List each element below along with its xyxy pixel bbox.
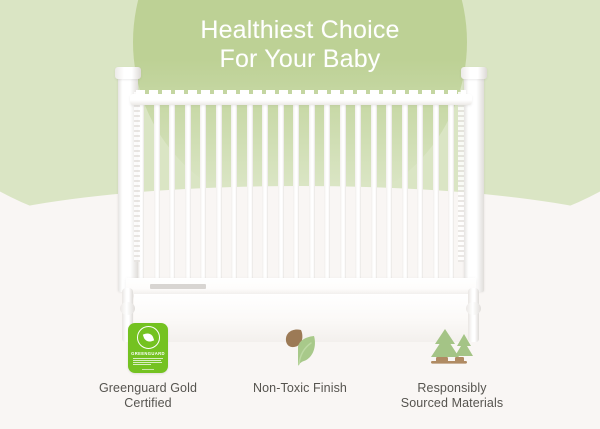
crib-slat (169, 104, 175, 280)
greenguard-gold-badge-icon: GREENGUARD (128, 322, 168, 374)
crib-post-ridges-left (134, 92, 140, 262)
feature-caption-line-1: Responsibly (401, 381, 503, 396)
crib-slat (340, 104, 346, 280)
greenguard-leaf-mark (137, 326, 160, 349)
crib-slat (216, 104, 222, 280)
feature-caption-line-1: Greenguard Gold (99, 381, 197, 396)
crib-post-cap-right (461, 67, 487, 79)
crib-top-rail-trim (136, 90, 466, 94)
feature-caption-greenguard: Greenguard Gold Certified (99, 381, 197, 411)
crib-slat (402, 104, 408, 280)
crib-slat (293, 104, 299, 280)
crib-label-plate (150, 284, 206, 289)
crib-slat (417, 104, 423, 280)
crib-slat (324, 104, 330, 280)
pine-trees-icon (424, 322, 480, 374)
crib-slat (371, 104, 377, 280)
headline-line-1: Healthiest Choice (0, 16, 600, 45)
two-leaves-icon (276, 322, 324, 374)
crib-top-rail (130, 94, 472, 105)
crib-slat (185, 104, 191, 280)
crib-post-cap-left (115, 67, 141, 79)
feature-caption-line-1: Non-Toxic Finish (253, 381, 347, 396)
crib-slat (262, 104, 268, 280)
greenguard-badge-textlines (133, 358, 163, 367)
feature-caption-line-2: Sourced Materials (401, 396, 503, 411)
feature-greenguard: GREENGUARD Greenguard Gold Certified (72, 322, 224, 411)
crib-slat (154, 104, 160, 280)
crib-post-ridges-right (458, 92, 464, 262)
feature-caption-line-2: Certified (99, 396, 197, 411)
promo-banner: Healthiest Choice For Your Baby (0, 0, 600, 429)
crib-slats (138, 104, 464, 280)
crib-slat (433, 104, 439, 280)
crib-slat (448, 104, 454, 280)
crib-slat (386, 104, 392, 280)
feature-caption-non-toxic: Non-Toxic Finish (253, 381, 347, 396)
greenguard-badge-footer (142, 369, 154, 370)
crib-slat (231, 104, 237, 280)
feature-caption-responsibly-sourced: Responsibly Sourced Materials (401, 381, 503, 411)
crib-slat (200, 104, 206, 280)
feature-responsibly-sourced: Responsibly Sourced Materials (376, 322, 528, 411)
feature-non-toxic: Non-Toxic Finish (224, 322, 376, 396)
feature-row: GREENGUARD Greenguard Gold Certified (0, 322, 600, 422)
greenguard-badge-word: GREENGUARD (131, 351, 165, 356)
crib-slat (278, 104, 284, 280)
headline: Healthiest Choice For Your Baby (0, 16, 600, 74)
crib-slat (355, 104, 361, 280)
crib-slat (247, 104, 253, 280)
crib-slat (309, 104, 315, 280)
crib-image (108, 70, 493, 310)
